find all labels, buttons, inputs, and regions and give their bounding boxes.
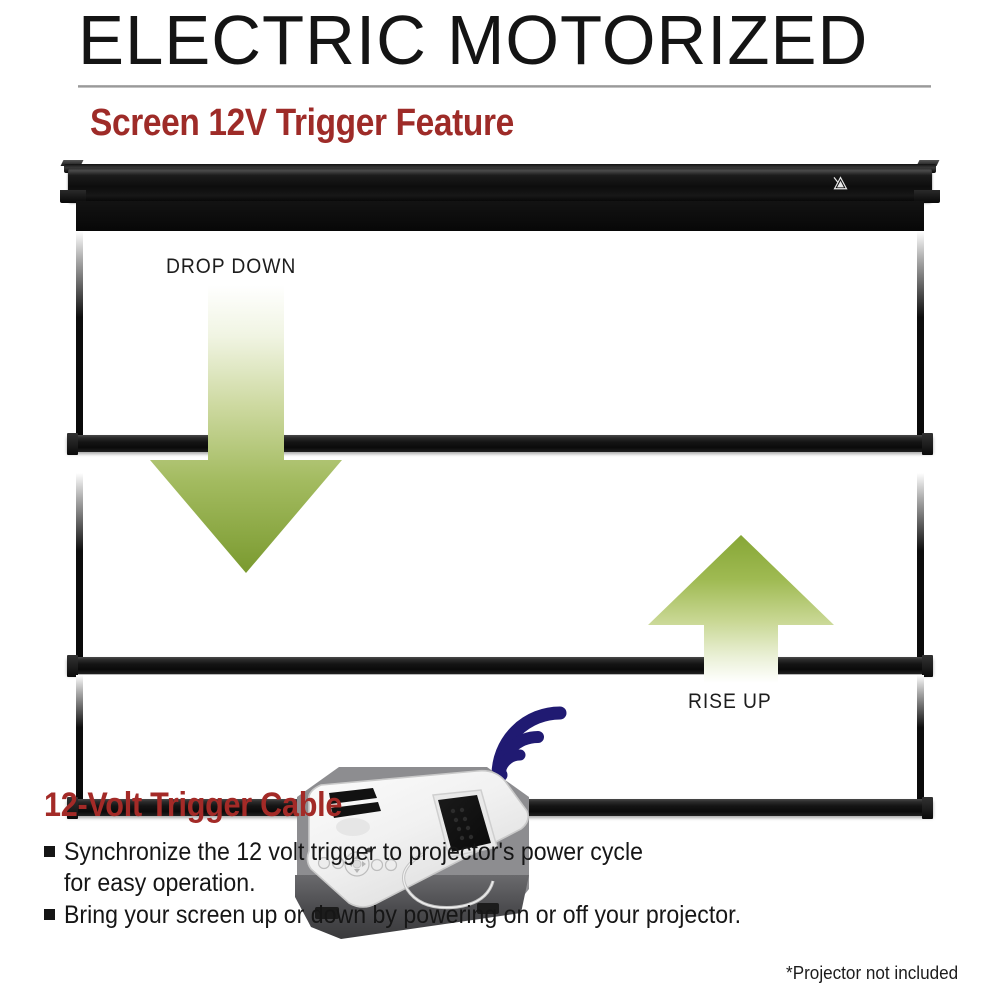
weight-bar-cap-left — [67, 655, 78, 677]
list-item: Synchronize the 12 volt trigger to proje… — [44, 837, 974, 899]
screen-housing — [60, 160, 940, 205]
drop-down-arrow-icon — [146, 285, 346, 575]
list-item: Bring your screen up or down by powering… — [44, 900, 974, 931]
feature-bullet-list: Synchronize the 12 volt trigger to proje… — [44, 837, 974, 932]
rise-up-arrow-icon — [646, 533, 836, 683]
screen-rail-left — [76, 231, 83, 436]
housing-body — [68, 168, 932, 202]
screen-illustration: DROP DOWN RISE UP — [0, 155, 1000, 775]
screen-rail-right — [917, 473, 924, 658]
bullet-text: Bring your screen up or down by powering… — [64, 900, 906, 931]
title-divider — [78, 85, 931, 88]
brand-triangle-logo — [833, 176, 848, 191]
bullet-text: Synchronize the 12 volt trigger to proje… — [64, 837, 906, 899]
page-title: ELECTRIC MOTORIZED — [78, 2, 925, 78]
weight-bar-cap-right — [922, 433, 933, 455]
rise-up-label: RISE UP — [688, 690, 772, 714]
weight-bar-cap-right — [922, 655, 933, 677]
feature-description-block: 12-Volt Trigger Cable Synchronize the 12… — [0, 775, 1000, 1000]
page-subtitle: Screen 12V Trigger Feature — [90, 99, 514, 147]
disclaimer-footnote: *Projector not included — [786, 963, 958, 984]
square-bullet-icon — [44, 846, 55, 857]
square-bullet-icon — [44, 909, 55, 920]
screen-rail-left — [76, 473, 83, 658]
screen-rail-right — [917, 231, 924, 436]
cable-heading: 12-Volt Trigger Cable — [44, 783, 342, 827]
weight-bar-cap-left — [67, 433, 78, 455]
header: ELECTRIC MOTORIZED Screen 12V Trigger Fe… — [0, 0, 1000, 155]
drop-down-label: DROP DOWN — [166, 255, 296, 279]
